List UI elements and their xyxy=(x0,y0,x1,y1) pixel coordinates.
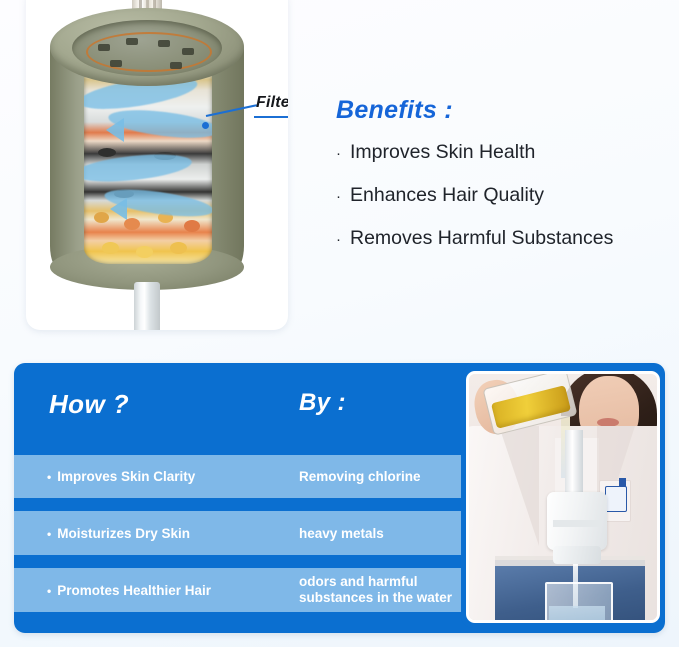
bullet-icon: · xyxy=(336,232,341,247)
column-header-how: How ? xyxy=(49,389,129,420)
row-how-label: Improves Skin Clarity xyxy=(57,469,195,484)
benefit-label: Improves Skin Health xyxy=(350,141,535,164)
callout-underline xyxy=(254,116,288,118)
filter-callout-label: Filter xyxy=(256,94,288,112)
row-how-cell: • Improves Skin Clarity xyxy=(47,469,195,484)
row-how-label: Promotes Healthier Hair xyxy=(57,583,211,598)
row-by-cell: heavy metals xyxy=(299,526,384,542)
outlet-tube xyxy=(134,282,160,330)
filter-diagram-image xyxy=(26,0,288,330)
row-by-cell: odors and harmful substances in the wate… xyxy=(299,574,452,607)
benefits-title: Benefits : xyxy=(336,96,666,125)
infographic-canvas: Filter Benefits : · Improves Skin Health… xyxy=(0,0,679,647)
row-how-cell: • Moisturizes Dry Skin xyxy=(47,526,190,541)
benefit-label: Removes Harmful Substances xyxy=(350,227,613,250)
bullet-icon: • xyxy=(47,528,51,540)
benefit-item: · Improves Skin Health xyxy=(336,141,666,164)
flow-arrow xyxy=(110,198,127,220)
callout-anchor-dot xyxy=(202,122,209,129)
bullet-icon: • xyxy=(47,585,51,597)
benefit-label: Enhances Hair Quality xyxy=(350,184,544,207)
bullet-icon: · xyxy=(336,189,341,204)
row-how-cell: • Promotes Healthier Hair xyxy=(47,583,211,598)
benefits-section: Benefits : · Improves Skin Health · Enha… xyxy=(336,96,666,270)
column-header-by: By : xyxy=(299,389,346,417)
bullet-icon: · xyxy=(336,146,341,161)
benefit-item: · Enhances Hair Quality xyxy=(336,184,666,207)
demo-photo xyxy=(466,371,660,623)
row-by-cell: Removing chlorine xyxy=(299,469,421,485)
filter-diagram-card: Filter xyxy=(26,0,288,330)
demo-photo-frame xyxy=(461,366,665,628)
flow-arrow xyxy=(106,118,124,142)
row-how-label: Moisturizes Dry Skin xyxy=(57,526,190,541)
benefit-item: · Removes Harmful Substances xyxy=(336,227,666,250)
bullet-icon: • xyxy=(47,471,51,483)
